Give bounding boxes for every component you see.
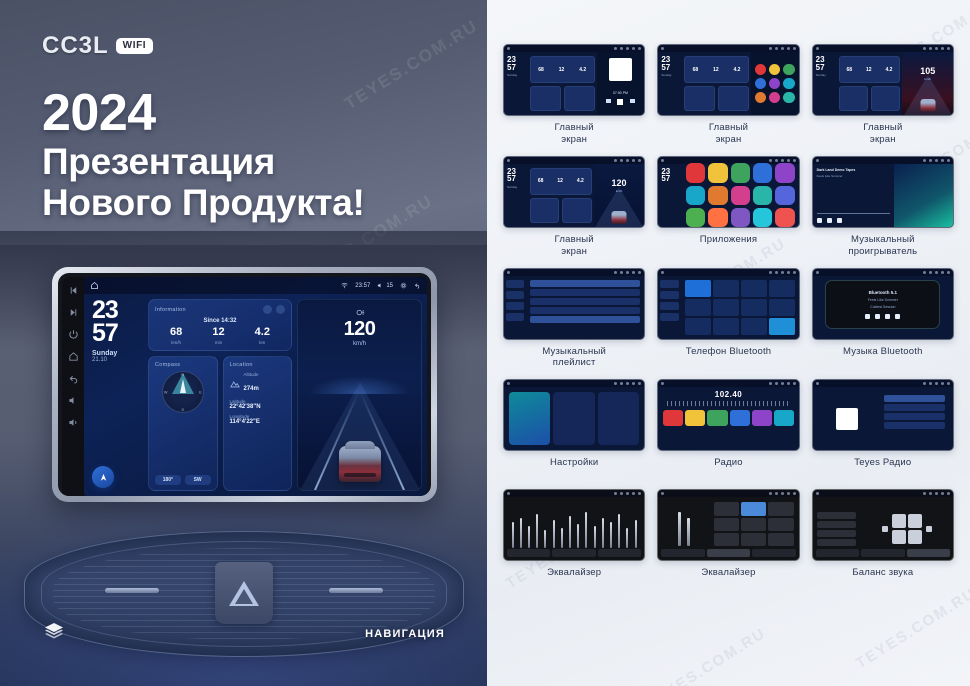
back-arrow-icon[interactable] — [68, 373, 79, 384]
volume-icon — [377, 282, 384, 289]
compass-readouts: 180° SW — [155, 475, 211, 485]
back-arrow-icon — [638, 47, 641, 50]
mini-widgets: 68124.2 — [528, 164, 594, 227]
eq-band-slider[interactable] — [512, 522, 514, 548]
app-icon[interactable] — [708, 186, 727, 205]
screenshot-thumbnail[interactable]: Bluetooth 5.1Feels Like SummerColdest Se… — [812, 268, 954, 340]
app-icon[interactable] — [731, 186, 750, 205]
screenshot-caption: Баланс звука — [852, 567, 913, 589]
app-icon[interactable] — [753, 163, 772, 182]
mini-lower-row — [684, 86, 749, 111]
station-preset[interactable] — [707, 410, 727, 426]
back-arrow-icon — [638, 271, 641, 274]
app-icon[interactable] — [769, 92, 780, 103]
eq-band-slider[interactable] — [577, 524, 579, 548]
eq-band-slider[interactable] — [626, 528, 628, 548]
longitude-value: 114°4'22"E — [230, 419, 286, 425]
mini-eq-tabs[interactable] — [661, 549, 795, 557]
eq-band-slider[interactable] — [528, 526, 530, 548]
app-icon[interactable] — [783, 78, 794, 89]
clock-icon — [775, 47, 778, 50]
wifi-icon — [769, 382, 772, 385]
home-icon[interactable] — [68, 351, 79, 362]
screenshot-cell[interactable]: 2357Sunday68124.207:50 PMГлавныйэкран — [503, 44, 645, 146]
gear-icon — [632, 271, 635, 274]
mini-clock-minutes: 57 — [816, 64, 837, 72]
back-arrow-icon — [947, 47, 950, 50]
information-actions[interactable] — [263, 305, 285, 314]
back-arrow-icon — [793, 47, 796, 50]
screenshot-caption: Музыкальныйплейлист — [542, 346, 606, 370]
eq-band-slider[interactable] — [610, 522, 612, 548]
volume-icon — [626, 159, 629, 162]
screenshot-thumbnail[interactable] — [657, 489, 799, 561]
app-icon[interactable] — [753, 186, 772, 205]
home-icon — [661, 47, 664, 50]
expand-icon[interactable] — [276, 305, 285, 314]
status-volume: 15 — [377, 282, 393, 289]
mini-radio[interactable]: 102.40 — [658, 387, 798, 450]
eq-band-slider[interactable] — [594, 526, 596, 548]
mountain-icon — [230, 380, 240, 388]
mini-phone-nav[interactable] — [658, 276, 680, 339]
car-dashboard: 23:57 15 — [0, 245, 487, 686]
presentation-page: TEYES.COM.RU TEYES.COM.RU TEYES.COM.RU C… — [0, 0, 970, 686]
hazard-light-button[interactable] — [215, 562, 273, 624]
mini-settings-tiles[interactable] — [504, 387, 644, 450]
volume-icon — [935, 159, 938, 162]
navigation-fab[interactable] — [92, 466, 114, 488]
wifi-icon — [614, 382, 617, 385]
clock-widget[interactable]: 23 57 Sunday 21.10 — [89, 299, 143, 491]
screenshot-cell[interactable]: Баланс звука — [812, 489, 954, 589]
wifi-icon — [614, 271, 617, 274]
hero-line-2: Нового Продукта! — [42, 182, 365, 223]
screenshot-cell[interactable]: Музыкальныйплейлист — [503, 268, 645, 370]
mini-car — [612, 211, 627, 224]
mini-widgets: 68124.2 — [682, 52, 751, 115]
mini-compass-card — [839, 86, 868, 111]
hero-line-1: Презентация — [42, 141, 365, 182]
back-arrow-icon — [638, 492, 641, 495]
app-icon[interactable] — [708, 163, 727, 182]
screenshot-cell[interactable]: Телефон Bluetooth — [657, 268, 799, 370]
head-unit: 23:57 15 — [52, 267, 437, 502]
mini-track-list[interactable] — [526, 276, 644, 339]
hazard-triangle-icon — [229, 581, 259, 606]
eq-band-slider[interactable] — [602, 518, 604, 548]
volume-icon — [781, 382, 784, 385]
mini-clock: 2357 — [658, 164, 682, 227]
mini-status-bar — [658, 269, 798, 276]
volume-down-icon[interactable] — [68, 395, 79, 406]
app-icon[interactable] — [731, 208, 750, 227]
refresh-icon[interactable] — [263, 305, 272, 314]
station-preset[interactable] — [663, 410, 683, 426]
wifi-icon — [341, 282, 348, 289]
home-icon[interactable] — [90, 281, 99, 290]
station-preset[interactable] — [774, 410, 794, 426]
mini-transport-controls[interactable] — [817, 218, 890, 223]
compass-widget[interactable]: Compass N E S — [148, 356, 218, 491]
screenshot-cell[interactable]: 2357Sunday68124.2Главныйэкран — [657, 44, 799, 146]
clock-minutes: 57 — [92, 322, 143, 345]
pause-icon — [827, 218, 832, 223]
app-icon[interactable] — [775, 163, 794, 182]
eq-band-slider[interactable] — [536, 514, 538, 548]
clock-icon — [775, 271, 778, 274]
volume-icon — [935, 492, 938, 495]
prev-track-icon[interactable] — [68, 285, 79, 296]
clock-icon — [775, 492, 778, 495]
radio-frequency: 102.40 — [661, 390, 795, 399]
app-icon[interactable] — [686, 163, 705, 182]
screenshot-caption: Главныйэкран — [555, 234, 594, 258]
mini-clock-minutes: 57 — [661, 64, 682, 72]
volume-icon — [781, 271, 784, 274]
mini-status-right — [769, 47, 796, 50]
volume-icon — [626, 382, 629, 385]
carplay-tile — [553, 392, 594, 445]
screenshot-caption: Музыка Bluetooth — [843, 346, 923, 368]
gear-icon — [632, 159, 635, 162]
mini-widgets: 68124.2 — [837, 52, 903, 115]
app-icon[interactable] — [686, 186, 705, 205]
app-icon[interactable] — [769, 78, 780, 89]
mini-driving-panel: 120km/h — [594, 164, 645, 227]
volume-icon — [626, 271, 629, 274]
status-bar: 23:57 15 — [84, 277, 427, 294]
clock-icon — [929, 382, 932, 385]
screenshot-thumbnail[interactable] — [812, 489, 954, 561]
screenshot-caption: Главныйэкран — [863, 122, 902, 146]
mini-screen-body: Bluetooth 5.1Feels Like SummerColdest Se… — [813, 276, 953, 339]
navigation-label: НАВИГАЦИЯ — [365, 628, 445, 640]
mini-screen-body: 2357Sunday68124.2 — [658, 52, 798, 115]
mini-clock-day: Sunday — [507, 185, 528, 189]
gear-icon — [941, 492, 944, 495]
gear-icon — [941, 159, 944, 162]
screenshot-cell[interactable]: Dark Land Demo TapesFeels Like SummerМуз… — [812, 156, 954, 258]
screen-body: 23 57 Sunday 21.10 — [84, 294, 427, 496]
mini-status-right — [614, 271, 641, 274]
headlight-icon — [355, 308, 364, 317]
mini-status-right — [769, 382, 796, 385]
hero-heading: 2024 Презентация Нового Продукта! — [42, 86, 365, 223]
app-icon[interactable] — [755, 92, 766, 103]
screenshot-cell[interactable]: Эквалайзер — [503, 489, 645, 589]
compass-dial: N E S W — [162, 371, 204, 413]
app-icon[interactable] — [783, 64, 794, 75]
head-unit-screen[interactable]: 23:57 15 — [84, 277, 427, 496]
back-arrow-icon — [793, 159, 796, 162]
app-icon[interactable] — [755, 78, 766, 89]
screenshot-thumbnail[interactable]: 2357Sunday68124.2 — [657, 44, 799, 116]
mini-information-card: 68124.2 — [839, 56, 901, 83]
app-icon[interactable] — [731, 163, 750, 182]
compass-n: N — [181, 372, 184, 377]
clock-icon — [929, 47, 932, 50]
station-preset[interactable] — [685, 410, 705, 426]
head-unit-bezel: 23:57 15 — [58, 273, 431, 496]
trip-stats: 68 km/h 12 min — [155, 327, 285, 345]
screenshot-caption: Teyes Радио — [854, 457, 911, 479]
screenshot-cell[interactable]: 2357Sunday68124.2120km/hГлавныйэкран — [503, 156, 645, 258]
power-icon[interactable] — [68, 329, 79, 340]
compass-title: Compass — [155, 362, 211, 368]
app-icon[interactable] — [783, 92, 794, 103]
mini-status-right — [923, 47, 950, 50]
home-icon — [816, 382, 819, 385]
mini-screen-body — [504, 276, 644, 339]
wifi-icon — [923, 492, 926, 495]
mini-shortcut-panel — [751, 52, 799, 115]
wifi-icon — [614, 47, 617, 50]
screenshot-cell[interactable]: 102.40Радио — [657, 379, 799, 479]
screenshot-caption: Главныйэкран — [555, 122, 594, 146]
status-bar-right: 23:57 15 — [341, 282, 421, 289]
screenshot-caption: Эквалайзер — [701, 567, 755, 589]
home-icon — [661, 271, 664, 274]
clock-icon — [929, 492, 932, 495]
mini-location-card — [871, 86, 900, 111]
screenshot-thumbnail[interactable]: 2357Sunday68124.207:50 PM — [503, 44, 645, 116]
wifi-badge: WIFI — [116, 38, 154, 54]
altitude-label: Altitude — [244, 372, 259, 377]
gear-icon — [632, 492, 635, 495]
mini-status-right — [614, 492, 641, 495]
screenshot-caption: Настройки — [550, 457, 598, 479]
driving-widget[interactable]: 120 km/h — [297, 299, 422, 491]
mini-clock-day: Sunday — [661, 73, 682, 77]
screenshot-cell[interactable]: Эквалайзер — [657, 489, 799, 589]
screenshot-thumbnail[interactable] — [657, 268, 799, 340]
mini-clock-day: Sunday — [816, 73, 837, 77]
mini-player-info: Dark Land Demo TapesFeels Like Summer — [813, 164, 894, 227]
balance-left-button — [882, 526, 888, 532]
screenshot-caption: Радио — [714, 457, 742, 479]
volume-up-icon[interactable] — [68, 417, 79, 428]
mini-status-bar — [504, 269, 644, 276]
screenshot-cell[interactable]: Teyes Радио — [812, 379, 954, 479]
gear-icon — [632, 382, 635, 385]
mini-information-card: 68124.2 — [684, 56, 749, 83]
app-icon[interactable] — [686, 208, 705, 227]
wifi-icon — [769, 159, 772, 162]
mini-status-bar — [658, 490, 798, 497]
back-arrow-icon — [793, 382, 796, 385]
thumbnail-grid: 2357Sunday68124.207:50 PMГлавныйэкран235… — [503, 44, 954, 589]
screenshot-thumbnail[interactable] — [503, 379, 645, 451]
location-widget[interactable]: Location Altitude 274m — [223, 356, 293, 491]
mini-visualizer — [894, 164, 953, 227]
mini-playlist-nav[interactable] — [504, 276, 526, 339]
compass-heading: 180° — [155, 475, 181, 485]
vent-handle-right[interactable] — [329, 588, 383, 593]
mini-status-right — [614, 159, 641, 162]
latitude-value: 22°42'38"N — [230, 404, 286, 410]
wifi-icon — [923, 382, 926, 385]
station-preset[interactable] — [752, 410, 772, 426]
screenshot-thumbnail[interactable]: 2357 — [657, 156, 799, 228]
clock-icon — [620, 382, 623, 385]
mini-screen-body — [658, 497, 798, 560]
mini-screen-body: 102.40 — [658, 387, 798, 450]
wifi-icon — [769, 492, 772, 495]
mini-screen-body — [658, 276, 798, 339]
information-widget[interactable]: Information Since 14:32 — [148, 299, 292, 351]
app-icon[interactable] — [755, 64, 766, 75]
eq-band-slider[interactable] — [544, 530, 546, 548]
gear-icon — [787, 159, 790, 162]
hero-year: 2024 — [42, 86, 365, 141]
hero-panel: TEYES.COM.RU TEYES.COM.RU TEYES.COM.RU C… — [0, 0, 487, 686]
eq-band-slider[interactable] — [635, 520, 637, 548]
mini-balance-tabs[interactable] — [816, 549, 950, 557]
volume-icon — [626, 492, 629, 495]
stat-value: 12 — [212, 327, 224, 338]
mini-clock: 2357Sunday — [658, 52, 682, 115]
home-icon — [661, 382, 664, 385]
clock-icon — [775, 159, 778, 162]
next-icon — [895, 314, 900, 319]
screenshot-cell[interactable]: Настройки — [503, 379, 645, 479]
mini-clock-minutes: 57 — [507, 64, 528, 72]
compass-w: W — [164, 390, 168, 395]
mini-location-card — [564, 86, 595, 111]
mini-status-bar — [813, 490, 953, 497]
eq-band-slider[interactable] — [585, 512, 587, 548]
home-icon — [507, 47, 510, 50]
altitude-value: 274m — [244, 386, 259, 392]
gear-icon — [787, 271, 790, 274]
app-icon[interactable] — [775, 208, 794, 227]
layers-icon — [42, 620, 66, 644]
home-icon — [507, 159, 510, 162]
home-icon — [816, 47, 819, 50]
trip-stat: 12 min — [212, 327, 224, 345]
mini-status-right — [923, 492, 950, 495]
prev-icon — [817, 218, 822, 223]
mini-transport-controls[interactable] — [865, 314, 900, 319]
eq-band-slider[interactable] — [561, 528, 563, 548]
mini-status-bar — [504, 45, 644, 52]
mini-compass-card — [530, 86, 561, 111]
mini-clock: 2357Sunday — [504, 52, 528, 115]
mini-screen-body: 2357Sunday68124.2105km/h — [813, 52, 953, 115]
hardware-button-rail[interactable] — [62, 277, 84, 496]
station-preset[interactable] — [730, 410, 750, 426]
screenshot-thumbnail[interactable] — [503, 489, 645, 561]
back-arrow-icon — [793, 492, 796, 495]
prev-icon — [865, 314, 870, 319]
eq-band-slider[interactable] — [520, 518, 522, 548]
screenshot-thumbnail[interactable] — [503, 268, 645, 340]
vent-handle-left[interactable] — [105, 588, 159, 593]
mini-status-right — [769, 159, 796, 162]
clock-icon — [620, 492, 623, 495]
volume-icon — [935, 271, 938, 274]
volume-icon — [626, 47, 629, 50]
gear-icon — [787, 47, 790, 50]
mini-eq-tabs[interactable] — [507, 549, 641, 557]
screenshot-caption: Эквалайзер — [547, 567, 601, 589]
mini-status-bar — [813, 269, 953, 276]
screenshot-thumbnail[interactable] — [812, 379, 954, 451]
mini-music-panel: 07:50 PM — [597, 52, 645, 115]
next-icon — [837, 218, 842, 223]
watermark: TEYES.COM.RU — [853, 585, 970, 673]
eq-band-slider[interactable] — [553, 520, 555, 548]
stop-icon — [885, 314, 890, 319]
mini-teyes-radio[interactable] — [813, 387, 953, 450]
back-arrow-icon — [947, 271, 950, 274]
car-graphic — [339, 446, 381, 482]
mini-status-bar — [813, 157, 953, 164]
mini-location-card — [562, 198, 591, 223]
app-icon[interactable] — [753, 208, 772, 227]
information-header: Information — [155, 305, 285, 314]
screenshot-cell[interactable]: Bluetooth 5.1Feels Like SummerColdest Se… — [812, 268, 954, 370]
back-arrow-icon — [638, 382, 641, 385]
wifi-icon — [769, 47, 772, 50]
screenshot-thumbnail[interactable]: 2357Sunday68124.2105km/h — [812, 44, 954, 116]
eq-band-slider[interactable] — [569, 516, 571, 548]
compass-s: S — [181, 407, 184, 412]
stat-value: 68 — [170, 327, 182, 338]
mini-status-bar — [813, 380, 953, 387]
balance-grid — [892, 514, 922, 544]
screenshot-cell[interactable]: 2357Приложения — [657, 156, 799, 258]
eq-band-slider[interactable] — [618, 514, 620, 548]
mini-stats: 68124.2 — [685, 57, 748, 82]
gear-icon — [787, 382, 790, 385]
screenshot-caption: Музыкальныйпроигрыватель — [848, 234, 917, 258]
mini-clock: 2357Sunday — [504, 164, 528, 227]
gear-icon[interactable] — [400, 282, 407, 289]
information-title: Information — [155, 307, 186, 313]
mini-screen-body — [813, 387, 953, 450]
mini-app-grid — [682, 164, 798, 227]
clock-icon — [929, 159, 932, 162]
radio-scale — [667, 401, 789, 406]
wifi-icon — [923, 159, 926, 162]
back-arrow-icon[interactable] — [414, 282, 421, 289]
gear-icon — [787, 492, 790, 495]
mini-information-card: 68124.2 — [530, 56, 595, 83]
app-icon[interactable] — [775, 186, 794, 205]
mini-screen-body — [813, 497, 953, 560]
clock-date: 21.10 — [92, 357, 143, 363]
wifi-tile — [509, 392, 550, 445]
screenshot-cell[interactable]: 2357Sunday68124.2105km/hГлавныйэкран — [812, 44, 954, 146]
mini-dialpad[interactable] — [681, 276, 799, 339]
mini-status-bar — [504, 380, 644, 387]
screenshot-thumbnail[interactable]: Dark Land Demo TapesFeels Like Summer — [812, 156, 954, 228]
radio-presets — [661, 410, 795, 426]
clock-icon — [620, 159, 623, 162]
app-icon[interactable] — [769, 64, 780, 75]
longitude-block: Longitude 114°4'22"E — [230, 414, 286, 425]
status-time: 23:57 — [355, 283, 370, 289]
screenshot-thumbnail[interactable]: 102.40 — [657, 379, 799, 451]
gear-icon — [941, 47, 944, 50]
screenshot-thumbnail[interactable]: 2357Sunday68124.2120km/h — [503, 156, 645, 228]
mini-screen-body: 2357 — [658, 164, 798, 227]
app-icon[interactable] — [708, 208, 727, 227]
trip-stat: 4.2 km — [255, 327, 270, 345]
next-track-icon[interactable] — [68, 307, 79, 318]
